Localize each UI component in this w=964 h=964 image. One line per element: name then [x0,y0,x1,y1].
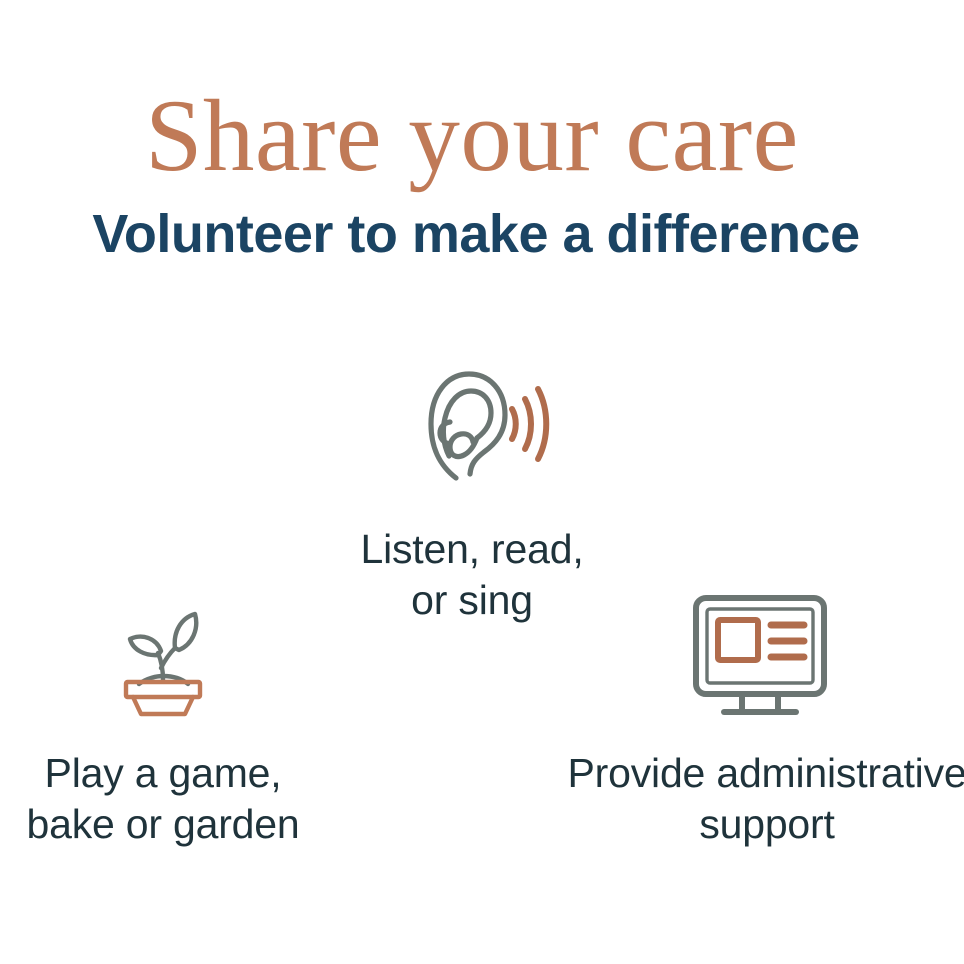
feature-play-caption: Play a game, bake or garden [0,748,378,851]
ear-listening-icon [272,352,672,482]
page-subheadline: Volunteer to make a difference [0,205,952,264]
feature-admin-caption: Provide administrative support [536,748,964,851]
feature-play-bake-garden: Play a game, bake or garden [0,596,378,851]
poster-canvas: Share your care Volunteer to make a diff… [0,0,964,964]
page-headline: Share your care [0,82,944,190]
feature-listen-read-sing: Listen, read, or sing [272,352,672,627]
feature-admin-support: Provide administrative support [536,592,964,851]
potted-seedling-icon [0,596,378,716]
desktop-monitor-icon [536,592,964,720]
